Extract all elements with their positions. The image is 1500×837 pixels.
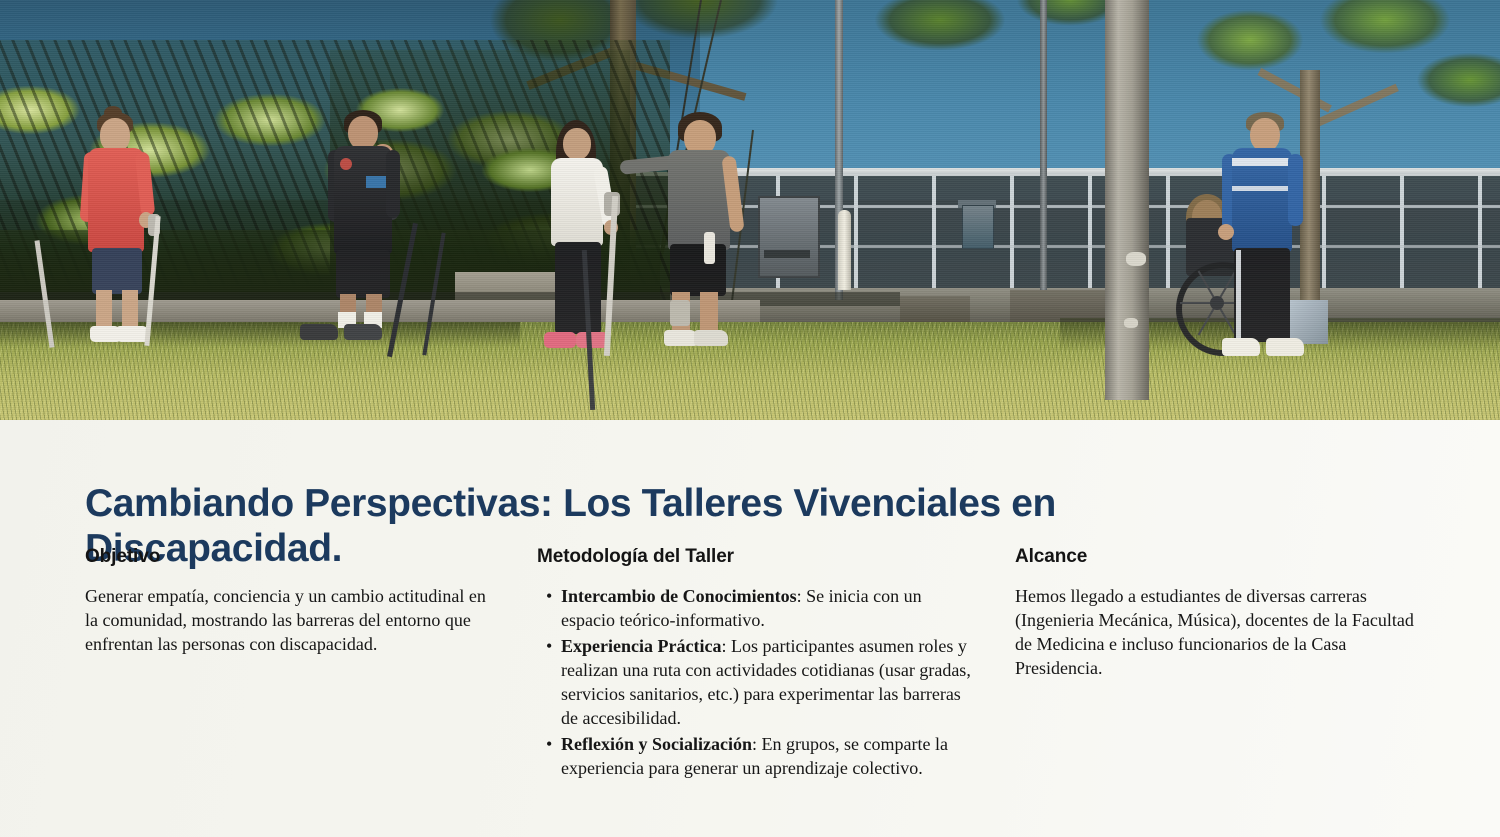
column-objetivo: Objetivo Generar empatía, conciencia y u…	[85, 546, 495, 656]
shorts	[670, 244, 726, 296]
water-bottle	[704, 232, 715, 264]
lawn-shadow-left	[0, 322, 520, 348]
pants	[555, 242, 601, 334]
jersey-stripe-lower	[1232, 186, 1292, 191]
head	[100, 118, 130, 152]
pole-paint-mark-b	[1124, 318, 1138, 328]
arm-right	[1288, 154, 1303, 226]
building-window-mullion-upper	[620, 205, 1500, 208]
trash-bin	[962, 205, 994, 249]
utility-box	[758, 196, 820, 278]
tree-canopy-right	[1170, 0, 1500, 160]
metal-pole-b	[1040, 0, 1047, 290]
shoe-left	[1222, 338, 1260, 356]
shoe-right	[1266, 338, 1304, 356]
column-body-alcance: Hemos llegado a estudiantes de diversas …	[1015, 584, 1435, 680]
building-window-band	[620, 172, 1500, 290]
shorts	[336, 250, 390, 298]
bullet-lead: Reflexión y Socialización	[561, 734, 752, 754]
jersey-logo	[366, 176, 386, 188]
list-item: Reflexión y Socialización: En grupos, se…	[561, 732, 977, 780]
column-heading-objetivo: Objetivo	[85, 546, 495, 568]
jersey-stripe-upper	[1232, 158, 1292, 166]
column-heading-alcance: Alcance	[1015, 546, 1435, 568]
content-area: Cambiando Perspectivas: Los Talleres Viv…	[0, 420, 1500, 837]
column-alcance: Alcance Hemos llegado a estudiantes de d…	[1015, 546, 1435, 680]
head	[348, 116, 378, 150]
head	[563, 128, 591, 160]
shorts	[92, 248, 142, 294]
bullet-lead: Experiencia Práctica	[561, 636, 721, 656]
track-pants-stripe	[1236, 250, 1241, 340]
column-heading-metodologia: Metodología del Taller	[537, 546, 977, 568]
stone-block-b	[900, 296, 970, 324]
list-item: Experiencia Práctica: Los participantes …	[561, 634, 977, 730]
shoe-left	[664, 330, 698, 346]
pole-paint-mark-a	[1126, 252, 1146, 266]
tree-trunk-right	[1300, 70, 1320, 330]
hand-left	[1218, 224, 1234, 240]
photo-scene	[0, 0, 1500, 420]
slide-root: Cambiando Perspectivas: Los Talleres Viv…	[0, 0, 1500, 837]
shoe-right	[344, 324, 382, 340]
leg-brace	[670, 300, 690, 326]
metodologia-bullet-list: Intercambio de Conocimientos: Se inicia …	[537, 584, 977, 780]
list-item: Intercambio de Conocimientos: Se inicia …	[561, 584, 977, 632]
head	[1250, 118, 1280, 152]
shoe-left	[300, 324, 338, 340]
bullet-lead: Intercambio de Conocimientos	[561, 586, 797, 606]
shoe-right	[576, 332, 608, 348]
utility-box-vent	[764, 250, 810, 258]
track-pants	[1234, 248, 1290, 342]
jersey-badge	[340, 158, 352, 170]
building-window-mullion-lower	[620, 245, 1500, 248]
column-body-objetivo: Generar empatía, conciencia y un cambio …	[85, 584, 495, 656]
white-bollard	[838, 210, 851, 290]
shoe-left	[544, 332, 576, 348]
header-photo	[0, 0, 1500, 420]
arm-right	[386, 150, 400, 218]
concrete-utility-pole	[1105, 0, 1149, 400]
shoe-right	[694, 330, 728, 346]
wheelchair-hub	[1210, 296, 1224, 310]
column-metodologia: Metodología del Taller Intercambio de Co…	[537, 546, 977, 782]
torso-grey-shirt	[668, 150, 730, 250]
